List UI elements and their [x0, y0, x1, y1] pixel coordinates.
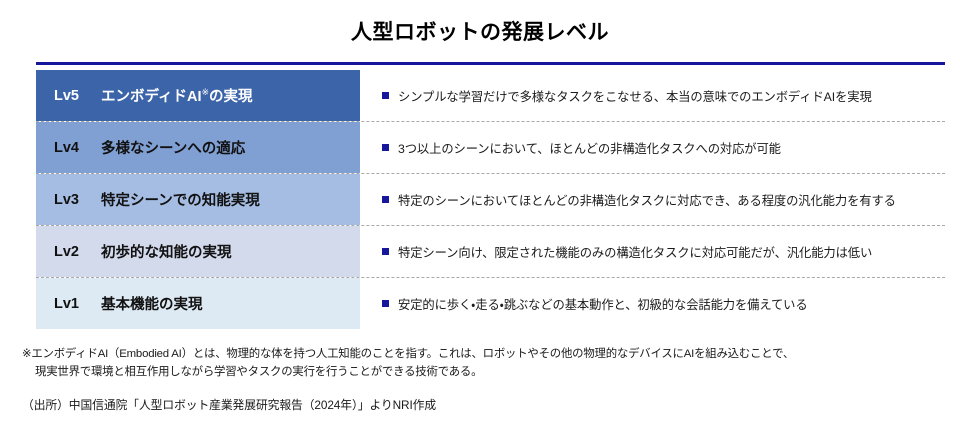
level-code: Lv5 — [54, 88, 88, 104]
level-row: Lv2 初歩的な知能の実現 特定シーン向け、限定された機能のみの構造化タスクに対… — [0, 226, 960, 277]
slide-root: 人型ロボットの発展レベル Lv5 エンボディドAI※の実現 シンプルな学習だけで… — [0, 0, 960, 434]
level-description-text: 3つ以上のシーンにおいて、ほとんどの非構造化タスクへの対応が可能 — [398, 139, 781, 157]
level-list: Lv5 エンボディドAI※の実現 シンプルな学習だけで多様なタスクをこなせる、本… — [0, 70, 960, 329]
level-row: Lv5 エンボディドAI※の実現 シンプルな学習だけで多様なタスクをこなせる、本… — [0, 70, 960, 121]
level-row: Lv4 多様なシーンへの適応 3つ以上のシーンにおいて、ほとんどの非構造化タスク… — [0, 122, 960, 173]
footnote-mark-icon: ※ — [202, 87, 210, 97]
level-label: 特定シーンでの知能実現 — [101, 189, 260, 210]
level-label-text: エンボディドAI — [101, 89, 202, 105]
level-row: Lv3 特定シーンでの知能実現 特定のシーンにおいてほとんどの非構造化タスクに対… — [0, 174, 960, 225]
level-description-lv1: 安定的に歩く・走る・跳ぶなどの基本動作と、初級的な会話能力を備えている — [360, 278, 960, 329]
level-bar-lv1: Lv1 基本機能の実現 — [36, 278, 360, 329]
level-description-text: 安定的に歩く・走る・跳ぶなどの基本動作と、初級的な会話能力を備えている — [398, 295, 808, 313]
level-code: Lv3 — [54, 192, 88, 208]
level-label: 多様なシーンへの適応 — [101, 137, 245, 158]
level-row: Lv1 基本機能の実現 安定的に歩く・走る・跳ぶなどの基本動作と、初級的な会話能… — [0, 278, 960, 329]
level-description-lv2: 特定シーン向け、限定された機能のみの構造化タスクに対応可能だが、汎化能力は低い — [360, 226, 960, 277]
level-bar-lv2: Lv2 初歩的な知能の実現 — [36, 226, 360, 277]
level-description-lv3: 特定のシーンにおいてほとんどの非構造化タスクに対応でき、ある程度の汎化能力を有す… — [360, 174, 960, 225]
level-description-text: 特定のシーンにおいてほとんどの非構造化タスクに対応でき、ある程度の汎化能力を有す… — [398, 191, 896, 209]
level-bar-lv4: Lv4 多様なシーンへの適応 — [36, 122, 360, 173]
level-code: Lv1 — [54, 296, 88, 312]
level-description-lv5: シンプルな学習だけで多様なタスクをこなせる、本当の意味でのエンボディドAIを実現 — [360, 70, 960, 121]
square-bullet-icon — [382, 248, 389, 255]
square-bullet-icon — [382, 300, 389, 307]
header-divider — [36, 62, 945, 65]
level-description-lv4: 3つ以上のシーンにおいて、ほとんどの非構造化タスクへの対応が可能 — [360, 122, 960, 173]
footnote-line-1: ※エンボディドAI（Embodied AI）とは、物理的な体を持つ人工知能のこと… — [22, 348, 794, 360]
level-bar-lv5: Lv5 エンボディドAI※の実現 — [36, 70, 360, 121]
square-bullet-icon — [382, 92, 389, 99]
footnote-line-2: 現実世界で環境と相互作用しながら学習やタスクの実行を行うことができる技術である。 — [22, 364, 947, 382]
level-bar-lv3: Lv3 特定シーンでの知能実現 — [36, 174, 360, 225]
square-bullet-icon — [382, 196, 389, 203]
level-label: エンボディドAI※の実現 — [101, 85, 253, 106]
level-label: 基本機能の実現 — [101, 293, 203, 314]
level-description-text: シンプルな学習だけで多様なタスクをこなせる、本当の意味でのエンボディドAIを実現 — [398, 87, 872, 105]
level-description-text: 特定シーン向け、限定された機能のみの構造化タスクに対応可能だが、汎化能力は低い — [398, 243, 872, 261]
level-code: Lv2 — [54, 244, 88, 260]
square-bullet-icon — [382, 144, 389, 151]
source-note: （出所）中国信通院「人型ロボット産業発展研究報告（2024年）」よりNRI作成 — [22, 396, 436, 413]
level-label: 初歩的な知能の実現 — [101, 241, 232, 262]
footnote: ※エンボディドAI（Embodied AI）とは、物理的な体を持つ人工知能のこと… — [22, 346, 947, 381]
page-title: 人型ロボットの発展レベル — [0, 16, 960, 46]
level-label-tail: の実現 — [209, 89, 253, 105]
level-code: Lv4 — [54, 140, 88, 156]
